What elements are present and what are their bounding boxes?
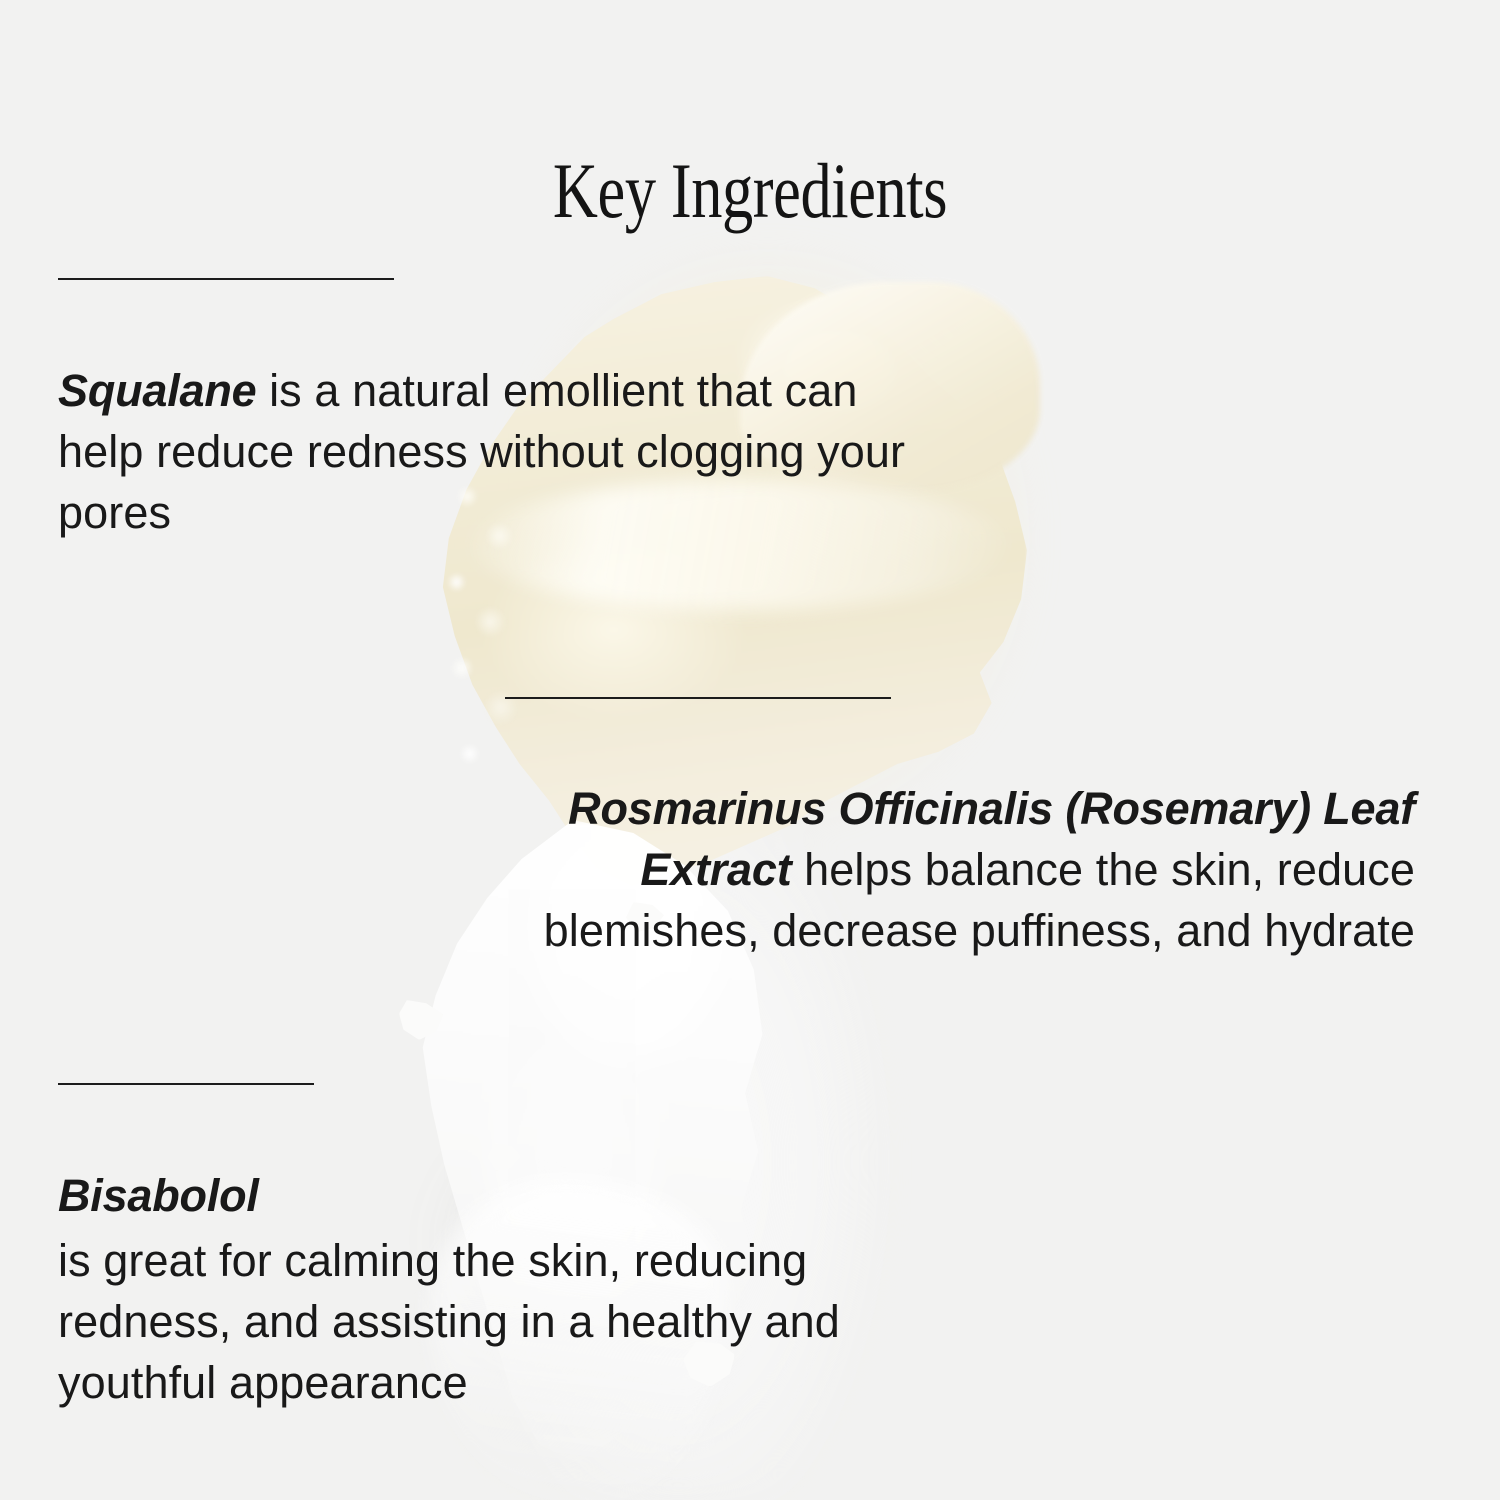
ingredient-divider-squalane: [58, 278, 394, 280]
ingredient-block-rosemary: Rosmarinus Officinalis (Rosemary) Leaf E…: [415, 778, 1415, 961]
ingredient-divider-bisabolol: [58, 1083, 314, 1085]
ingredient-body-bisabolol: is great for calming the skin, reducing …: [58, 1235, 840, 1408]
key-ingredients-panel: Key Ingredients Squalane is a natural em…: [0, 0, 1500, 1500]
ingredient-divider-rosemary: [505, 697, 891, 699]
ingredient-block-squalane: Squalane is a natural emollient that can…: [58, 360, 938, 543]
ingredient-name-bisabolol: Bisabolol: [58, 1165, 958, 1226]
ingredient-name-squalane: Squalane: [58, 365, 256, 416]
page-title: Key Ingredients: [150, 152, 1350, 230]
ingredient-block-bisabolol: Bisabololis great for calming the skin, …: [58, 1165, 958, 1413]
content-layer: Key Ingredients Squalane is a natural em…: [0, 0, 1500, 1500]
